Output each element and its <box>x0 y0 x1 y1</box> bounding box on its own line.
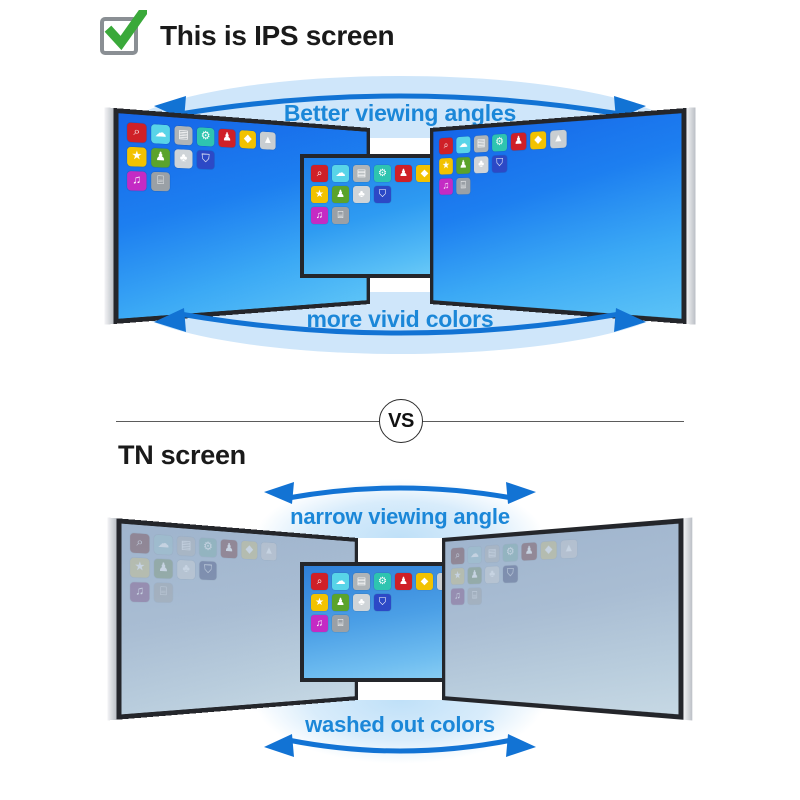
user-profile-icon[interactable]: ♟ <box>468 567 482 584</box>
cloud-icon[interactable]: ▲ <box>260 131 276 149</box>
icon-row: ♫⌸ <box>127 171 276 193</box>
settings-gear-icon[interactable]: ⚙ <box>199 538 216 557</box>
favorites-star-icon[interactable]: ★ <box>311 594 328 611</box>
search-icon[interactable]: ⌕ <box>439 137 453 154</box>
settings-gear-icon[interactable]: ⚙ <box>503 544 518 562</box>
tn-right-icon-grid: ⌕☁▤⚙♟◆▲★♟♣⛉♫⌸ <box>451 539 577 604</box>
cloud-icon[interactable]: ▲ <box>550 130 566 149</box>
check-mark-icon <box>103 10 147 54</box>
keyboard-icon[interactable]: ⌸ <box>332 207 349 224</box>
tree-icon[interactable]: ♣ <box>474 156 488 173</box>
ips-left-icon-grid: ⌕☁▤⚙♟◆▲★♟♣⛉♫⌸ <box>127 122 276 193</box>
photos-icon[interactable]: ☁ <box>456 136 470 153</box>
cloud-icon[interactable]: ▲ <box>261 542 276 560</box>
keyboard-icon[interactable]: ⌸ <box>332 615 349 632</box>
calculator-icon[interactable]: ▤ <box>353 165 370 182</box>
settings-gear-icon[interactable]: ⚙ <box>197 127 214 146</box>
checkbox-checked-icon <box>100 14 144 58</box>
favorites-star-icon[interactable]: ★ <box>311 186 328 203</box>
keyboard-icon[interactable]: ⌸ <box>456 178 470 195</box>
keyboard-icon[interactable]: ⌸ <box>151 172 170 191</box>
search-icon[interactable]: ⌕ <box>127 122 146 142</box>
shopping-cart-icon[interactable]: ⛉ <box>503 565 518 583</box>
shopping-cart-icon[interactable]: ⛉ <box>197 150 214 169</box>
user-profile-icon[interactable]: ♟ <box>332 594 349 611</box>
flame-icon[interactable]: ◆ <box>416 573 433 590</box>
media-icon[interactable]: ♫ <box>130 582 149 602</box>
flame-icon[interactable]: ◆ <box>530 131 546 150</box>
tn-left-icon-grid: ⌕☁▤⚙♟◆▲★♟♣⛉♫⌸ <box>130 533 276 604</box>
settings-gear-icon[interactable]: ⚙ <box>492 134 507 152</box>
favorites-star-icon[interactable]: ★ <box>451 568 464 585</box>
ips-header: This is IPS screen <box>100 14 394 58</box>
tn-right-panel: ⌕☁▤⚙♟◆▲★♟♣⛉♫⌸ <box>442 518 683 719</box>
tree-icon[interactable]: ♣ <box>353 186 370 203</box>
user-profile-icon[interactable]: ♟ <box>332 186 349 203</box>
media-icon[interactable]: ♫ <box>311 207 328 224</box>
icon-row: ♫⌸ <box>439 175 566 195</box>
photos-icon[interactable]: ☁ <box>468 546 482 563</box>
search-icon[interactable]: ⌕ <box>311 165 328 182</box>
ips-monitor-right: ⌕☁▤⚙♟◆▲★♟♣⛉♫⌸ <box>430 108 686 324</box>
tn-right-bezel-edge <box>683 518 692 721</box>
calculator-icon[interactable]: ▤ <box>353 573 370 590</box>
contacts-icon[interactable]: ♟ <box>511 132 526 150</box>
search-icon[interactable]: ⌕ <box>311 573 328 590</box>
calculator-icon[interactable]: ▤ <box>174 126 192 146</box>
icon-row: ♫⌸ <box>311 615 454 632</box>
icon-row: ★♟♣⛉ <box>311 594 454 611</box>
favorites-star-icon[interactable]: ★ <box>439 158 453 175</box>
tree-icon[interactable]: ♣ <box>174 149 192 168</box>
settings-gear-icon[interactable]: ⚙ <box>374 165 391 182</box>
user-profile-icon[interactable]: ♟ <box>151 148 170 168</box>
vs-badge: VS <box>379 399 423 443</box>
cloud-icon[interactable]: ▲ <box>561 539 577 558</box>
search-icon[interactable]: ⌕ <box>130 533 149 554</box>
media-icon[interactable]: ♫ <box>439 178 453 195</box>
calculator-icon[interactable]: ▤ <box>474 135 488 153</box>
icon-row: ★♟♣⛉ <box>130 558 276 583</box>
ips-right-panel: ⌕☁▤⚙♟◆▲★♟♣⛉♫⌸ <box>430 108 686 324</box>
ips-right-bezel-edge <box>686 107 695 324</box>
photos-icon[interactable]: ☁ <box>332 165 349 182</box>
tree-icon[interactable]: ♣ <box>485 566 499 583</box>
ips-right-icon-grid: ⌕☁▤⚙♟◆▲★♟♣⛉♫⌸ <box>439 130 566 195</box>
icon-row: ⌕☁▤⚙♟◆▲ <box>439 130 566 155</box>
favorites-star-icon[interactable]: ★ <box>127 147 146 167</box>
media-icon[interactable]: ♫ <box>311 615 328 632</box>
settings-gear-icon[interactable]: ⚙ <box>374 573 391 590</box>
contacts-icon[interactable]: ♟ <box>395 573 412 590</box>
icon-row: ★♟♣⛉ <box>439 152 566 175</box>
shopping-cart-icon[interactable]: ⛉ <box>492 155 507 173</box>
calculator-icon[interactable]: ▤ <box>485 545 499 563</box>
tn-center-icon-grid: ⌕☁▤⚙♟◆▲★♟♣⛉♫⌸ <box>311 573 454 632</box>
contacts-icon[interactable]: ♟ <box>522 542 537 560</box>
tn-bottom-caption: washed out colors <box>0 712 800 738</box>
keyboard-icon[interactable]: ⌸ <box>154 583 173 603</box>
favorites-star-icon[interactable]: ★ <box>130 558 149 578</box>
contacts-icon[interactable]: ♟ <box>221 539 238 558</box>
shopping-cart-icon[interactable]: ⛉ <box>374 186 391 203</box>
keyboard-icon[interactable]: ⌸ <box>468 588 482 605</box>
infographic-stage: This is IPS screen Better viewing angles… <box>0 0 800 800</box>
photos-icon[interactable]: ☁ <box>154 535 173 555</box>
tree-icon[interactable]: ♣ <box>353 594 370 611</box>
search-icon[interactable]: ⌕ <box>451 547 464 564</box>
photos-icon[interactable]: ☁ <box>151 124 170 144</box>
icon-row: ♫⌸ <box>451 585 577 605</box>
photos-icon[interactable]: ☁ <box>332 573 349 590</box>
flame-icon[interactable]: ◆ <box>241 541 257 560</box>
user-profile-icon[interactable]: ♟ <box>154 559 173 579</box>
flame-icon[interactable]: ◆ <box>541 541 557 560</box>
media-icon[interactable]: ♫ <box>127 171 146 191</box>
flame-icon[interactable]: ◆ <box>240 130 256 149</box>
media-icon[interactable]: ♫ <box>451 588 464 605</box>
contacts-icon[interactable]: ♟ <box>219 129 236 148</box>
calculator-icon[interactable]: ▤ <box>177 536 195 556</box>
ips-bottom-caption: more vivid colors <box>0 306 800 333</box>
icon-row: ⌕☁▤⚙♟◆▲ <box>451 539 577 564</box>
icon-row: ♫⌸ <box>130 582 276 604</box>
tree-icon[interactable]: ♣ <box>177 560 195 580</box>
tn-left-bezel-edge <box>108 518 117 721</box>
user-profile-icon[interactable]: ♟ <box>456 157 470 174</box>
shopping-cart-icon[interactable]: ⛉ <box>199 561 216 580</box>
shopping-cart-icon[interactable]: ⛉ <box>374 594 391 611</box>
contacts-icon[interactable]: ♟ <box>395 165 412 182</box>
icon-row: ★♟♣⛉ <box>451 562 577 585</box>
tn-section-title: TN screen <box>118 440 246 471</box>
icon-row: ⌕☁▤⚙♟◆▲ <box>130 533 276 561</box>
tn-monitor-right: ⌕☁▤⚙♟◆▲★♟♣⛉♫⌸ <box>442 518 683 719</box>
icon-row: ⌕☁▤⚙♟◆▲ <box>127 122 276 149</box>
icon-row: ★♟♣⛉ <box>127 147 276 172</box>
ips-left-bezel-edge <box>105 107 114 324</box>
icon-row: ⌕☁▤⚙♟◆▲ <box>311 573 454 590</box>
page-title: This is IPS screen <box>160 20 394 52</box>
